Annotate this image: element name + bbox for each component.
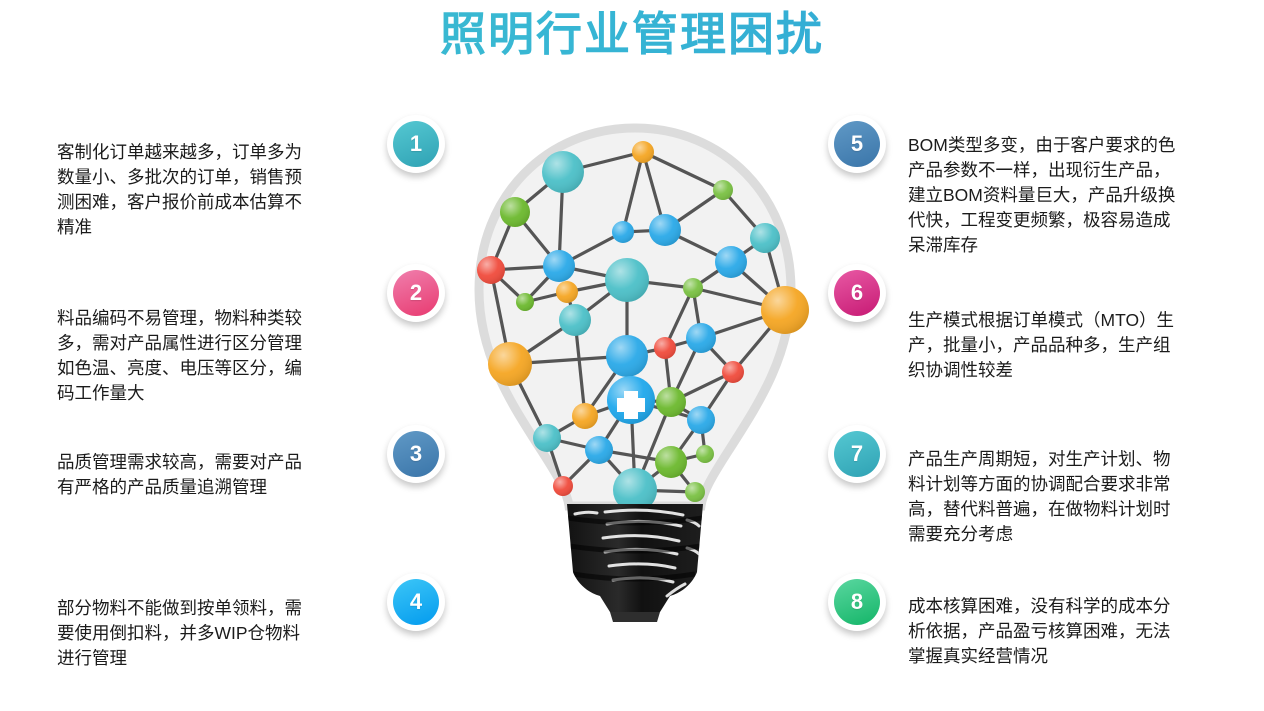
badge-8-disc: 8 [834, 579, 880, 625]
badge-6-number: 6 [851, 282, 863, 304]
item-8-text: 成本核算困难，没有科学的成本分 析依据，产品盈亏核算困难，无法 掌握真实经营情况 [908, 594, 1238, 669]
badge-8-number: 8 [851, 591, 863, 613]
badge-2-disc: 2 [393, 270, 439, 316]
item-4-text: 部分物料不能做到按单领料，需 要使用倒扣料，并多WIP仓物料 进行管理 [57, 596, 357, 671]
badge-8[interactable]: 8 [828, 573, 886, 631]
badge-3-number: 3 [410, 443, 422, 465]
badge-4[interactable]: 4 [387, 573, 445, 631]
badge-5-disc: 5 [834, 121, 880, 167]
badge-2[interactable]: 2 [387, 264, 445, 322]
badge-1[interactable]: 1 [387, 115, 445, 173]
network-lightbulb-illustration [455, 120, 815, 640]
badge-7[interactable]: 7 [828, 425, 886, 483]
page-title: 照明行业管理困扰 [0, 4, 1264, 64]
badge-1-disc: 1 [393, 121, 439, 167]
bulb-base [567, 504, 703, 622]
badge-5[interactable]: 5 [828, 115, 886, 173]
badge-6-disc: 6 [834, 270, 880, 316]
badge-6[interactable]: 6 [828, 264, 886, 322]
slide-root: 照明行业管理困扰 [0, 0, 1264, 711]
badge-2-number: 2 [410, 282, 422, 304]
badge-3[interactable]: 3 [387, 425, 445, 483]
item-6-text: 生产模式根据订单模式（MTO）生 产，批量小，产品品种多，生产组 织协调性较差 [908, 308, 1238, 383]
badge-7-disc: 7 [834, 431, 880, 477]
badge-4-number: 4 [410, 591, 422, 613]
badge-3-disc: 3 [393, 431, 439, 477]
badge-1-number: 1 [410, 133, 422, 155]
badge-4-disc: 4 [393, 579, 439, 625]
item-3-text: 品质管理需求较高，需要对产品 有严格的产品质量追溯管理 [57, 450, 357, 500]
badge-7-number: 7 [851, 443, 863, 465]
item-7-text: 产品生产周期短，对生产计划、物 料计划等方面的协调配合要求非常 高，替代料普遍，… [908, 447, 1238, 547]
plus-icon [607, 376, 655, 424]
item-5-text: BOM类型多变，由于客户要求的色 产品参数不一样，出现衍生产品， 建立BOM资料… [908, 133, 1238, 258]
item-2-text: 料品编码不易管理，物料种类较 多，需对产品属性进行区分管理 如色温、亮度、电压等… [57, 306, 357, 406]
item-1-text: 客制化订单越来越多，订单多为 数量小、多批次的订单，销售预 测困难，客户报价前成… [57, 140, 357, 240]
badge-5-number: 5 [851, 133, 863, 155]
